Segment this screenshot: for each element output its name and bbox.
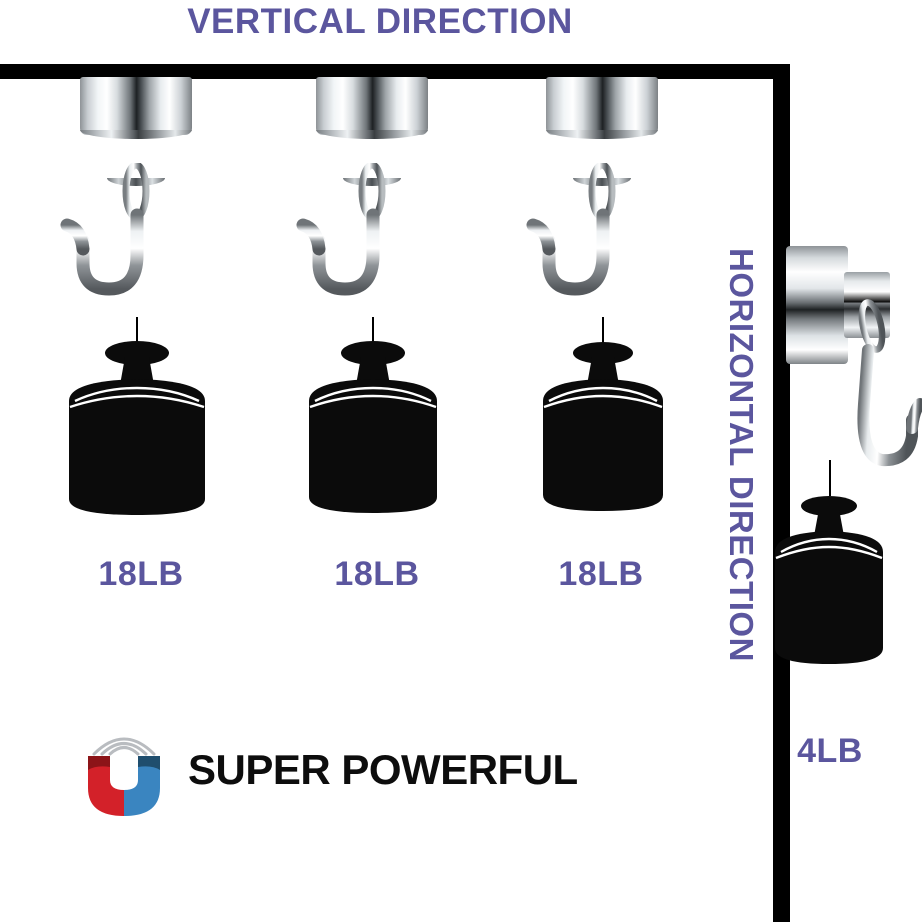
chrome-disc-magnet-icon — [80, 77, 192, 135]
calibration-weight-icon — [51, 339, 221, 539]
infographic-canvas: VERTICAL DIRECTION HORIZONTAL DIRECTION — [0, 0, 922, 922]
horseshoe-magnet-icon — [82, 722, 166, 818]
page-title-vertical-direction: VERTICAL DIRECTION — [0, 2, 760, 42]
chrome-disc-magnet-icon — [546, 77, 658, 135]
brand-badge: SUPER POWERFUL — [82, 722, 578, 818]
magnet-hook-assembly-4-horizontal: 4LB — [786, 244, 922, 549]
j-hook-icon — [511, 163, 691, 343]
calibration-weight-icon — [765, 492, 895, 692]
page-title-horizontal-direction: HORIZONTAL DIRECTION — [722, 248, 760, 768]
weight-label-3: 18LB — [521, 555, 681, 594]
brand-tagline: SUPER POWERFUL — [188, 746, 578, 794]
chrome-disc-magnet-icon — [316, 77, 428, 135]
calibration-weight-icon — [525, 339, 695, 539]
weight-label-4: 4LB — [764, 732, 896, 771]
calibration-weight-icon — [287, 339, 457, 539]
weight-label-2: 18LB — [297, 555, 457, 594]
hanging-wire — [829, 460, 831, 496]
j-hook-icon — [45, 163, 225, 343]
j-hook-icon — [281, 163, 461, 343]
weight-label-1: 18LB — [61, 555, 221, 594]
